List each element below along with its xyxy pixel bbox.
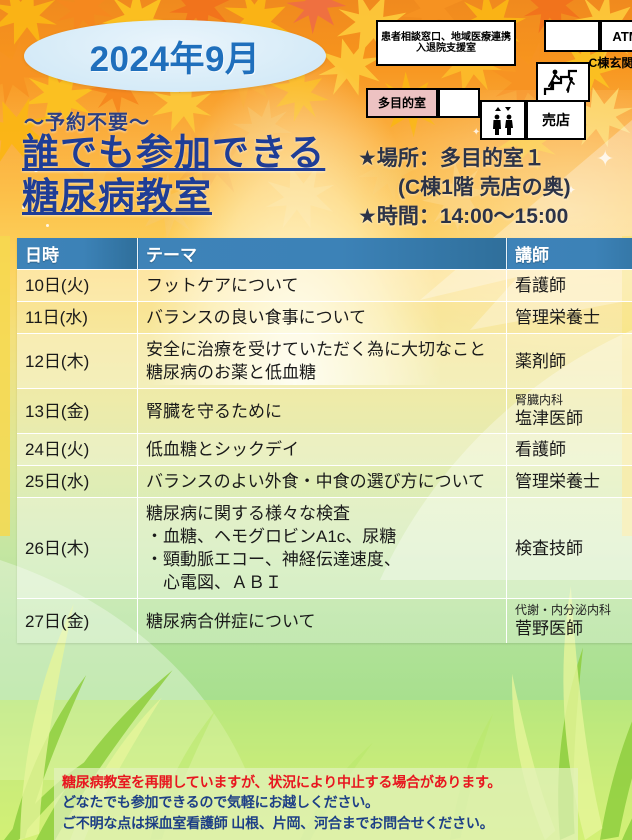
- cell-theme: 糖尿病合併症について: [138, 599, 507, 644]
- cell-date: 24日(火): [17, 434, 138, 466]
- schedule-table-head: 日時 テーマ 講師: [17, 238, 632, 270]
- cell-theme: 低血糖とシックデイ: [138, 434, 507, 466]
- footer-notice: 糖尿病教室を再開していますが、状況により中止する場合があります。 どなたでも参加…: [54, 768, 578, 840]
- floor-map: 患者相談窓口、地域医療連携入退院支援室 ATM C棟玄関 多目的室: [376, 14, 628, 130]
- lecturer-name: 検査技師: [515, 538, 632, 559]
- page-title: 誰でも参加できる 糖尿病教室: [22, 131, 362, 219]
- schedule-table: 日時 テーマ 講師 10日(火)フットケアについて看護師11日(水)バランスの良…: [17, 238, 632, 643]
- lecturer-name: 管理栄養士: [515, 307, 632, 328]
- cell-theme: 腎臓を守るために: [138, 389, 507, 434]
- cell-date: 27日(金): [17, 599, 138, 644]
- cell-theme: バランスの良い食事について: [138, 302, 507, 334]
- page-title-line1: 誰でも参加できる: [22, 131, 362, 175]
- stairs-icon-svg: [543, 67, 583, 97]
- footer-warning-line: 糖尿病教室を再開していますが、状況により中止する場合があります。: [62, 772, 570, 792]
- map-shop-label: 売店: [526, 100, 586, 140]
- elevator-icon-svg: [486, 104, 520, 136]
- cell-theme: 糖尿病に関する様々な検査・血糖、ヘモグロビンA1c、尿糖・頸動脈エコー、神経伝達…: [138, 498, 507, 599]
- map-room-consultation: 患者相談窓口、地域医療連携入退院支援室: [376, 20, 516, 66]
- cell-date: 10日(火): [17, 270, 138, 302]
- column-header-lecturer: 講師: [507, 238, 632, 270]
- theme-line: 心電図、ＡＢＩ: [146, 571, 498, 594]
- cell-date: 12日(木): [17, 334, 138, 389]
- table-row: 10日(火)フットケアについて看護師: [17, 270, 632, 302]
- footer-contact-line: ご不明な点は採血室看護師 山根、片岡、河合までお問合せください。: [62, 813, 570, 834]
- column-header-theme: テーマ: [138, 238, 507, 270]
- theme-line: フットケアについて: [146, 274, 498, 297]
- theme-line: 低血糖とシックデイ: [146, 438, 498, 461]
- cell-date: 25日(水): [17, 466, 138, 498]
- elevator-icon: [480, 100, 526, 140]
- cell-date: 26日(木): [17, 498, 138, 599]
- poster-root: ✦ ✦ ✦ 2024年9月 〜予約不要〜 誰でも参加できる 糖尿病教室 ★場所：…: [0, 0, 632, 840]
- table-row: 12日(木)安全に治療を受けていただく為に大切なこと糖尿病のお薬と低血糖薬剤師: [17, 334, 632, 389]
- table-row: 25日(水)バランスのよい外食・中食の選び方について管理栄養士: [17, 466, 632, 498]
- table-row: 24日(火)低血糖とシックデイ看護師: [17, 434, 632, 466]
- event-info: ★場所：多目的室１ (C棟1階 売店の奥) ★時間：14:00〜15:00: [358, 144, 630, 231]
- map-room-blank-1: [544, 20, 600, 52]
- cell-lecturer: 看護師: [507, 434, 632, 466]
- lecturer-department: 腎臓内科: [515, 393, 632, 408]
- theme-line: ・頸動脈エコー、神経伝達速度、: [146, 548, 498, 571]
- cell-theme: フットケアについて: [138, 270, 507, 302]
- lecturer-name: 看護師: [515, 439, 632, 460]
- theme-line: バランスのよい外食・中食の選び方について: [146, 470, 498, 493]
- place-label: ★場所：多目的室１: [358, 144, 630, 173]
- lecturer-department: 代謝・内分泌内科: [515, 603, 632, 618]
- cell-lecturer: 検査技師: [507, 498, 632, 599]
- month-badge-label: 2024年9月: [24, 20, 326, 92]
- theme-line: 腎臓を守るために: [146, 400, 498, 423]
- schedule-table-body: 10日(火)フットケアについて看護師11日(水)バランスの良い食事について管理栄…: [17, 270, 632, 644]
- lecturer-name: 薬剤師: [515, 351, 632, 372]
- cell-lecturer: 代謝・内分泌内科菅野医師: [507, 599, 632, 644]
- theme-line: バランスの良い食事について: [146, 306, 498, 329]
- cell-date: 11日(水): [17, 302, 138, 334]
- cell-date: 13日(金): [17, 389, 138, 434]
- lecturer-name: 管理栄養士: [515, 471, 632, 492]
- theme-line: 糖尿病のお薬と低血糖: [146, 361, 498, 384]
- map-room-blank-2: [438, 88, 480, 118]
- cell-lecturer: 管理栄養士: [507, 466, 632, 498]
- lecturer-name: 看護師: [515, 275, 632, 296]
- theme-line: 安全に治療を受けていただく為に大切なこと: [146, 338, 498, 361]
- map-multipurpose-room: 多目的室: [366, 88, 438, 118]
- table-row: 11日(水)バランスの良い食事について管理栄養士: [17, 302, 632, 334]
- schedule-header-row: 日時 テーマ 講師: [17, 238, 632, 270]
- cell-lecturer: 腎臓内科塩津医師: [507, 389, 632, 434]
- map-atm-label: ATM: [600, 20, 632, 52]
- table-row: 13日(金)腎臓を守るために腎臓内科塩津医師: [17, 389, 632, 434]
- lecturer-name: 菅野医師: [515, 618, 632, 639]
- cell-theme: バランスのよい外食・中食の選び方について: [138, 466, 507, 498]
- theme-line: 糖尿病に関する様々な検査: [146, 502, 498, 525]
- stairs-icon: [536, 62, 590, 102]
- cell-lecturer: 管理栄養士: [507, 302, 632, 334]
- cell-lecturer: 看護師: [507, 270, 632, 302]
- table-row: 26日(木)糖尿病に関する様々な検査・血糖、ヘモグロビンA1c、尿糖・頸動脈エコ…: [17, 498, 632, 599]
- theme-line: ・血糖、ヘモグロビンA1c、尿糖: [146, 525, 498, 548]
- lecturer-name: 塩津医師: [515, 408, 632, 429]
- sparkle-dot: [46, 224, 49, 227]
- place-detail: (C棟1階 売店の奥): [358, 173, 630, 202]
- cell-theme: 安全に治療を受けていただく為に大切なこと糖尿病のお薬と低血糖: [138, 334, 507, 389]
- page-title-line2: 糖尿病教室: [22, 175, 362, 219]
- theme-line: 糖尿病合併症について: [146, 610, 498, 633]
- time-label: ★時間：14:00〜15:00: [358, 202, 630, 231]
- cell-lecturer: 薬剤師: [507, 334, 632, 389]
- table-row: 27日(金)糖尿病合併症について代謝・内分泌内科菅野医師: [17, 599, 632, 644]
- column-header-date: 日時: [17, 238, 138, 270]
- footer-open-line: どなたでも参加できるので気軽にお越しください。: [62, 792, 570, 813]
